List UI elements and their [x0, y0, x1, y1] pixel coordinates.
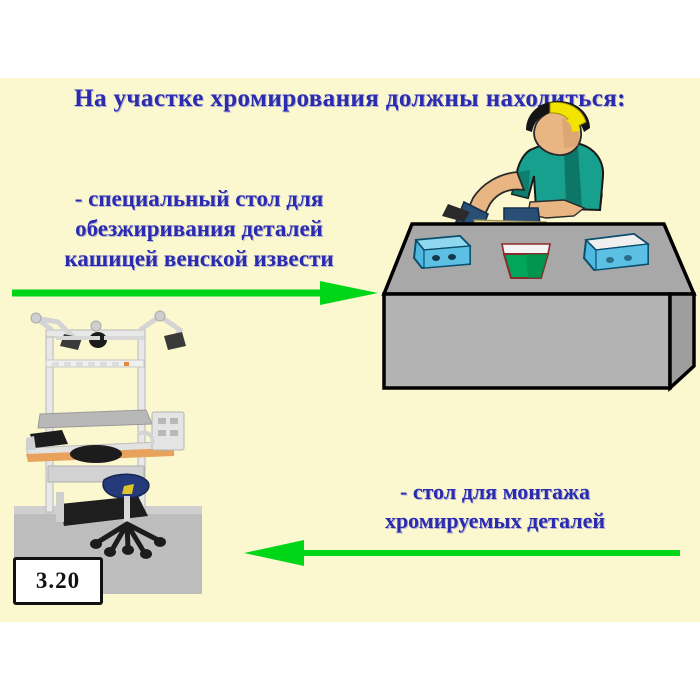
- caption-right-line1: - стол для монтажа: [300, 478, 690, 507]
- workstation-photo: [12, 308, 204, 598]
- blue-tray-right: [584, 234, 648, 270]
- blue-tray-left: [414, 236, 470, 268]
- worker-degreasing-table-illustration: [378, 98, 700, 418]
- caption-left-line2: обезжиривания деталей: [4, 214, 394, 244]
- photo-number-badge: 3.20: [13, 557, 103, 605]
- work-table: [384, 224, 694, 388]
- worker-figure: [442, 101, 603, 234]
- caption-left: - специальный стол для обезжиривания дет…: [4, 184, 394, 274]
- caption-right: - стол для монтажа хромируемых деталей: [300, 478, 690, 535]
- green-basin: [502, 244, 550, 278]
- slide-background: На участке хромирования должны находитьс…: [0, 78, 700, 622]
- caption-left-line1: - специальный стол для: [4, 184, 394, 214]
- arrow-left-icon: [242, 538, 682, 568]
- caption-left-line3: кашицей венской извести: [4, 244, 394, 274]
- arrow-right-icon: [10, 278, 378, 308]
- slide-canvas: На участке хромирования должны находитьс…: [0, 0, 700, 700]
- caption-right-line2: хромируемых деталей: [300, 507, 690, 536]
